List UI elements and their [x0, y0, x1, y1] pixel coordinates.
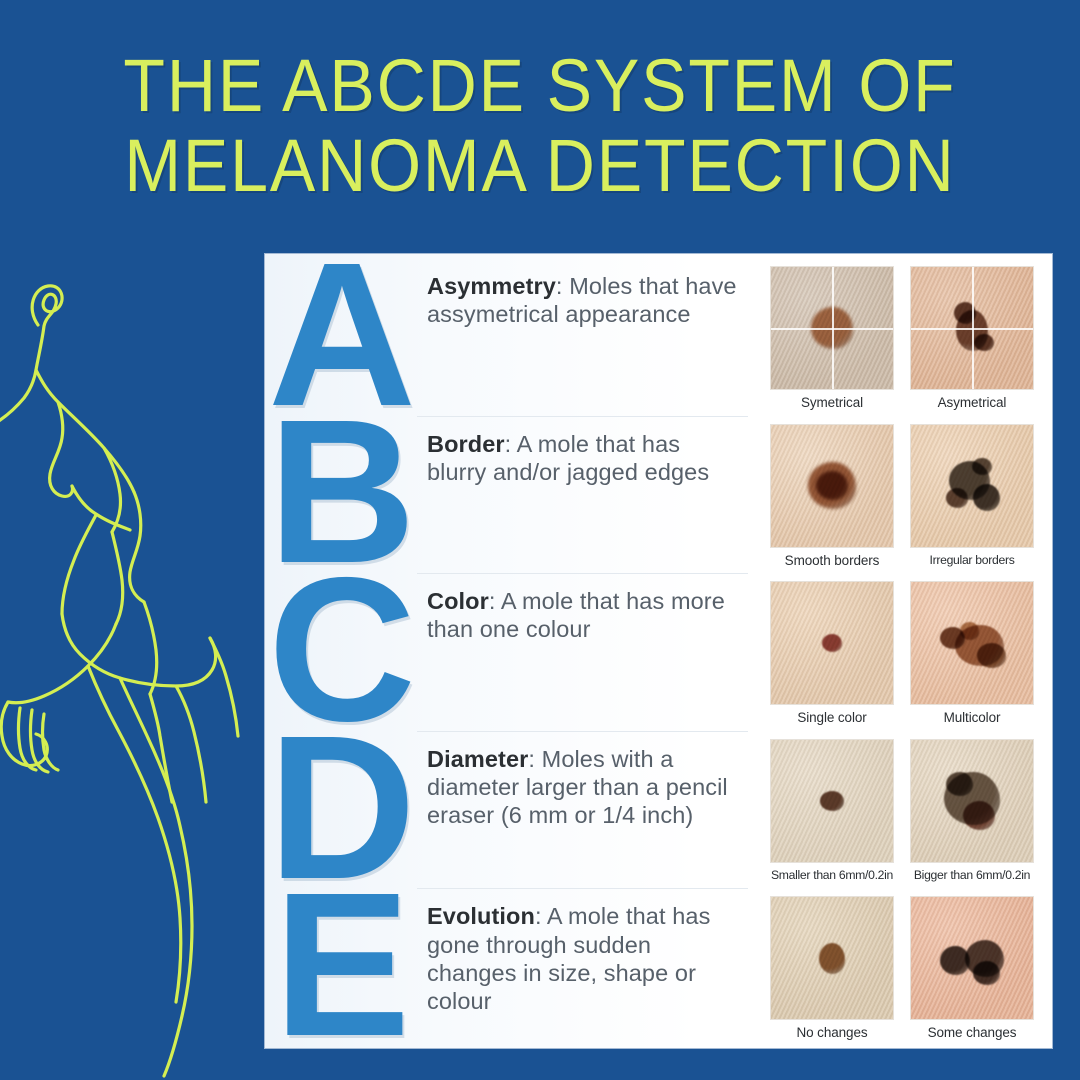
photo-column: SymetricalAsymetrical: [762, 258, 1052, 416]
criteria-separator: :: [535, 903, 542, 929]
criteria-term: Color: [427, 588, 489, 614]
forearm-line: [144, 602, 157, 694]
photo-smooth-border-mole: Smooth borders: [770, 424, 894, 570]
upper-arm-line: [130, 492, 144, 602]
description-column: Color: A mole that has more than one col…: [417, 573, 762, 731]
criteria-row-e: EEvolution: A mole that has gone through…: [265, 888, 1052, 1046]
photo-caption: Smooth borders: [785, 553, 880, 568]
hip-line: [150, 694, 172, 802]
photo-unchanged-mole: No changes: [770, 896, 894, 1042]
abcde-criteria-card: AAsymmetry: Moles that have assymetrical…: [265, 254, 1052, 1048]
photo-multicolor-mole: Multicolor: [910, 581, 1034, 727]
line-art-figure-illustration: [0, 230, 270, 1080]
finger-1-line: [19, 708, 37, 770]
photo-caption: Multicolor: [944, 710, 1001, 725]
torso-line: [112, 532, 123, 624]
photo-small-diameter-mole: Smaller than 6mm/0.2in: [770, 739, 894, 885]
criteria-separator: :: [556, 273, 563, 299]
description-column: Asymmetry: Moles that have assymetrical …: [417, 258, 762, 416]
photo-column: Smooth bordersIrregular borders: [762, 416, 1052, 574]
criteria-term: Diameter: [427, 746, 528, 772]
chest-line: [50, 402, 73, 496]
photo-caption: Smaller than 6mm/0.2in: [771, 868, 893, 882]
photo-irregular-border-mole: Irregular borders: [910, 424, 1034, 570]
photo-symmetrical-mole: Symetrical: [770, 266, 894, 412]
leg-back-line: [88, 666, 181, 1002]
shoulder-line: [36, 370, 134, 492]
finger-2-line: [31, 710, 49, 772]
hip-outer-line: [176, 686, 206, 802]
side-outer-line: [210, 638, 238, 736]
criteria-description-d: Diameter: Moles with a diameter larger t…: [427, 745, 744, 830]
photo-caption: Symetrical: [801, 395, 863, 410]
photo-caption: Bigger than 6mm/0.2in: [914, 868, 1030, 882]
photo-caption: Single color: [797, 710, 866, 725]
letter-column: E: [265, 888, 417, 1046]
photo-large-diameter-mole: Bigger than 6mm/0.2in: [910, 739, 1034, 885]
leg-front-line: [120, 678, 192, 1076]
bust-line: [72, 486, 130, 530]
back-line: [62, 515, 96, 614]
photo-caption: Asymetrical: [938, 395, 1007, 410]
description-column: Diameter: Moles with a diameter larger t…: [417, 731, 762, 889]
description-column: Evolution: A mole that has gone through …: [417, 888, 762, 1046]
waist-curve: [8, 624, 116, 703]
photo-column: Single colorMulticolor: [762, 573, 1052, 731]
photo-column: No changesSome changes: [762, 888, 1052, 1046]
criteria-rows-container: AAsymmetry: Moles that have assymetrical…: [265, 254, 1052, 1048]
inner-arm-line: [104, 448, 121, 532]
big-letter-e: E: [274, 887, 409, 1043]
photo-caption: Some changes: [928, 1025, 1017, 1040]
photo-asymmetrical-mole: Asymetrical: [910, 266, 1034, 412]
criteria-term: Asymmetry: [427, 273, 556, 299]
photo-single-color-mole: Single color: [770, 581, 894, 727]
criteria-description-c: Color: A mole that has more than one col…: [427, 587, 744, 643]
criteria-term: Border: [427, 431, 505, 457]
head-hair-line: [0, 286, 62, 424]
criteria-description-a: Asymmetry: Moles that have assymetrical …: [427, 272, 744, 328]
hand-thumb-line: [1, 702, 47, 766]
abdomen-line: [62, 614, 216, 686]
finger-3-line: [43, 714, 59, 770]
photo-column: Smaller than 6mm/0.2inBigger than 6mm/0.…: [762, 731, 1052, 889]
photo-changed-mole: Some changes: [910, 896, 1034, 1042]
page-title: THE ABCDE SYSTEM OF MELANOMA DETECTION: [0, 46, 1080, 206]
criteria-description-b: Border: A mole that has blurry and/or ja…: [427, 430, 744, 486]
title-line-1: THE ABCDE SYSTEM OF: [43, 46, 1037, 126]
title-line-2: MELANOMA DETECTION: [43, 126, 1037, 206]
criteria-term: Evolution: [427, 903, 535, 929]
photo-caption: Irregular borders: [930, 553, 1015, 567]
criteria-separator: :: [489, 588, 496, 614]
photo-caption: No changes: [796, 1025, 867, 1040]
description-column: Border: A mole that has blurry and/or ja…: [417, 416, 762, 574]
criteria-description-e: Evolution: A mole that has gone through …: [427, 902, 744, 1015]
